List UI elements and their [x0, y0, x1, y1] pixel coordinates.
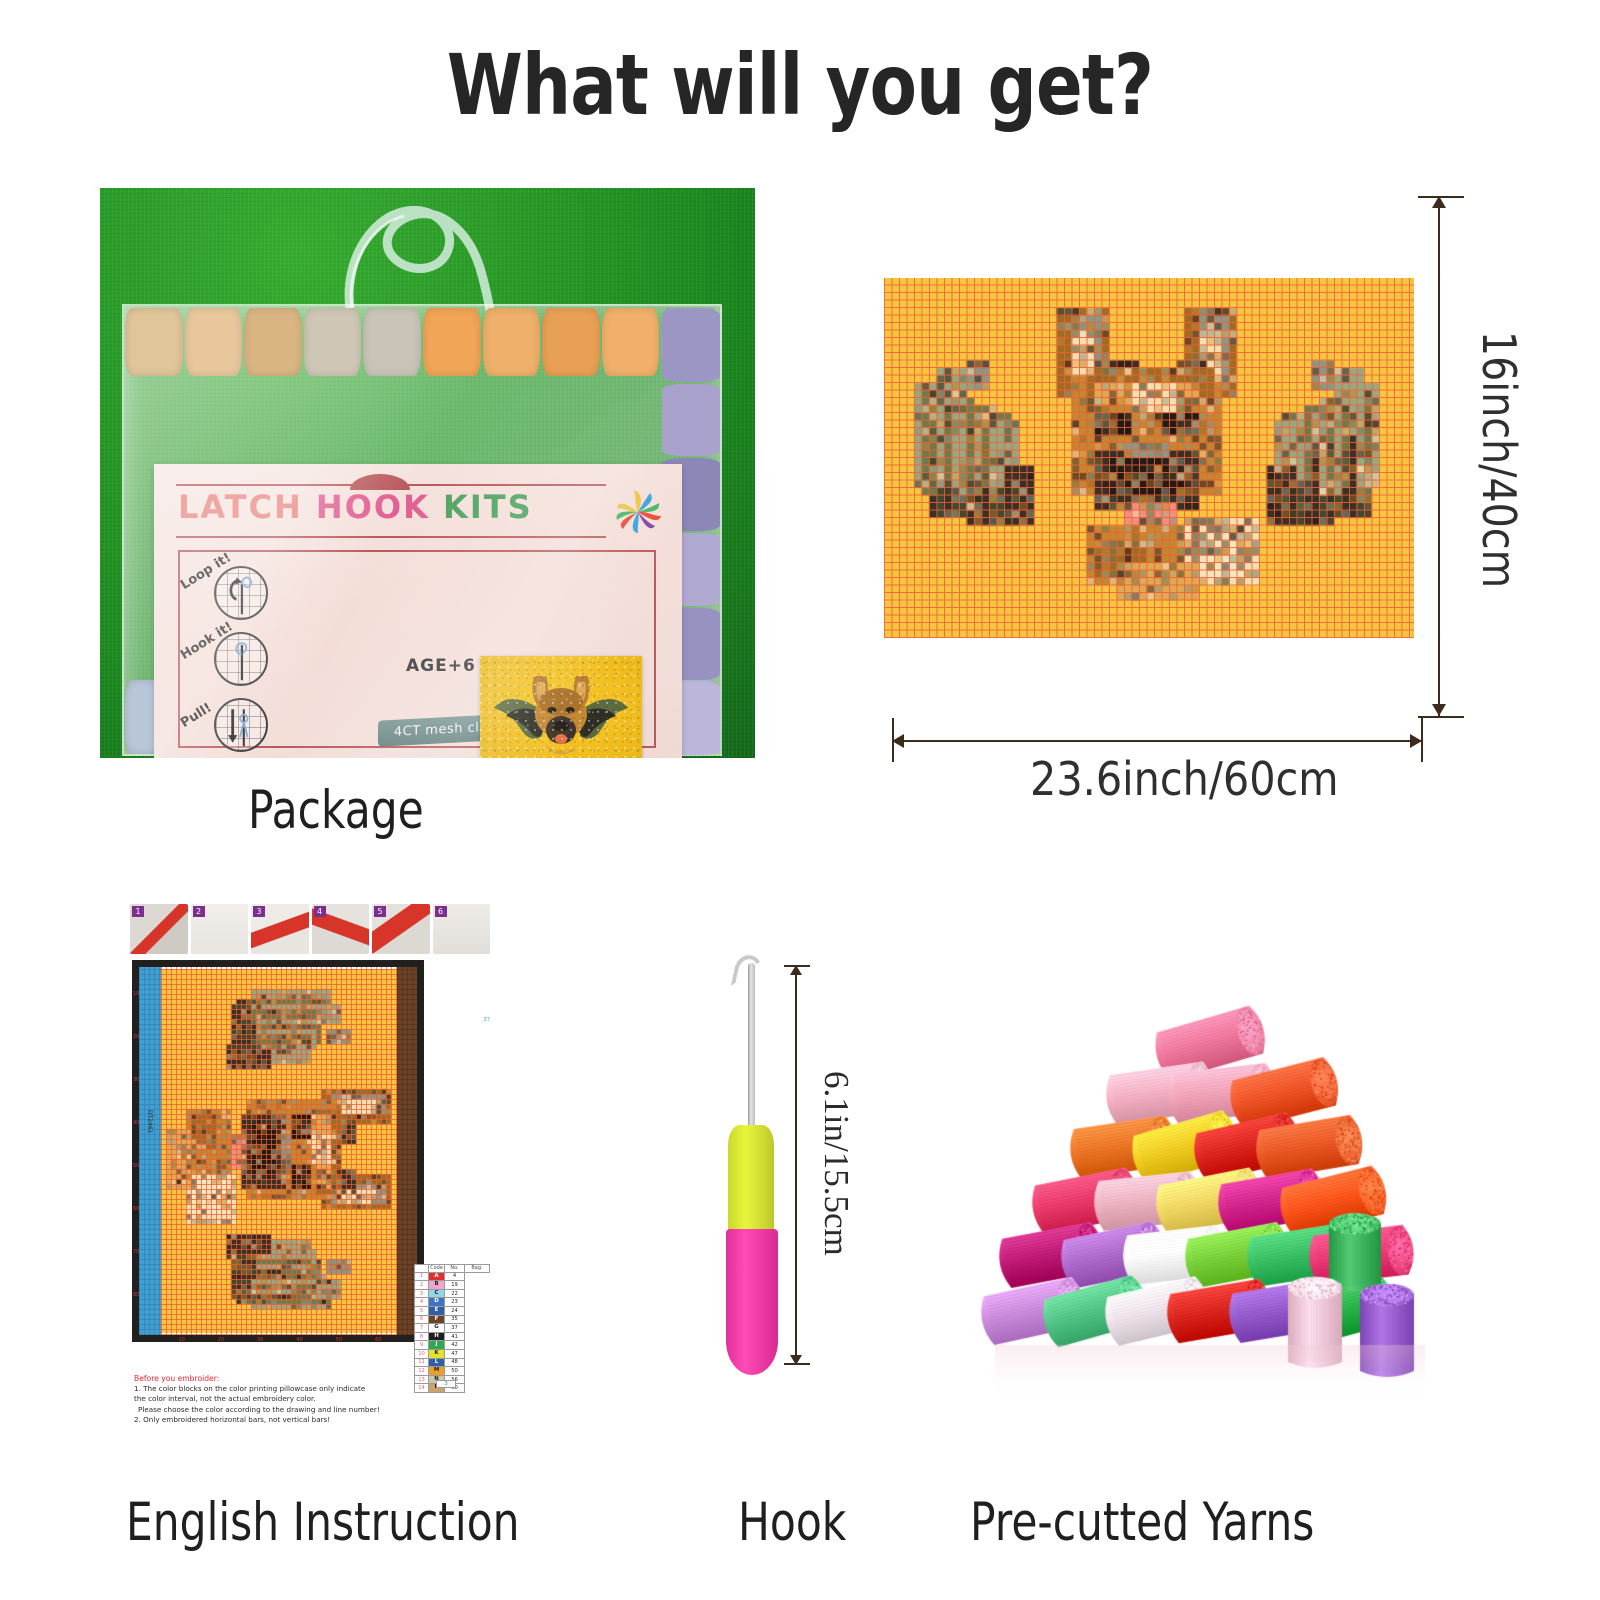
package-printed-label: LATCH HOOK KITS	[154, 464, 682, 758]
dimension-arrow-vertical	[1438, 196, 1440, 716]
yarn-bundle	[542, 308, 600, 376]
legend-index: 1	[415, 1272, 429, 1281]
yarn-bundle	[423, 308, 481, 376]
legend-row: 4D235	[415, 1298, 490, 1307]
step-thumbnail: 1	[130, 904, 188, 954]
legend-header-cell: Bag.	[465, 1265, 490, 1273]
legend-number: 37	[445, 1324, 465, 1333]
ruler-tick: 10	[133, 991, 139, 997]
legend-code-cell: G	[429, 1324, 445, 1333]
legend-index: 5	[415, 1306, 429, 1315]
legend-row: 6F353	[415, 1315, 490, 1324]
legend-row: 12M503	[415, 1367, 490, 1376]
legend-color-swatch: H	[429, 1333, 444, 1341]
yarn-bundle	[304, 308, 362, 376]
thumbnail-step-badge: 6	[435, 906, 447, 917]
legend-header-cell: Code	[429, 1265, 445, 1273]
legend-color-swatch: D	[429, 1298, 444, 1306]
yarn-row-top	[124, 308, 720, 376]
legend-row: 1A43	[415, 1272, 490, 1281]
legend-row: 10K473	[415, 1349, 490, 1358]
before-embroider-line-2: the color interval, not the actual embro…	[134, 1394, 424, 1404]
caption-yarns: Pre-cutted Yarns	[970, 1492, 1314, 1553]
legend-number: 42	[445, 1341, 465, 1350]
yarn-bundle	[363, 308, 421, 376]
legend-number: 50	[445, 1367, 465, 1376]
yarn-bundle	[483, 308, 541, 376]
plastic-package-bag: LATCH HOOK KITS	[122, 304, 722, 756]
yarn-bundle	[244, 308, 302, 376]
latch-hook-tool: 6.1in/15.5cm	[700, 955, 830, 1375]
legend-number: 4	[445, 1272, 465, 1281]
chart-ruler-x: 102030405060	[162, 1337, 398, 1342]
legend-index: 14	[415, 1384, 429, 1393]
pre-cut-yarn-pile	[955, 925, 1465, 1415]
page-title: What will you get?	[144, 36, 1456, 134]
legend-number: 47	[445, 1349, 465, 1358]
z-brand-logo-icon	[178, 756, 218, 758]
yarn-bundle-vertical	[662, 384, 720, 457]
ruler-tick: 20	[133, 1034, 139, 1040]
ruler-tick: 80	[133, 1292, 139, 1298]
legend-number: 48	[445, 1358, 465, 1367]
age-recommendation-text: AGE+6 !	[406, 656, 491, 676]
label-instruction-frame: Loop it! Hook it!	[178, 550, 656, 748]
legend-color-swatch: A	[429, 1273, 444, 1281]
legend-code-cell: B	[429, 1281, 445, 1290]
step-thumbnail-strip: 123456	[130, 904, 490, 954]
ruler-tick: 20	[218, 1337, 224, 1342]
legend-color-swatch: F	[429, 1316, 444, 1324]
legend-index: 3	[415, 1289, 429, 1298]
yarn-bundle	[602, 308, 660, 376]
legend-row: 7G373	[415, 1324, 490, 1333]
legend-number: 19	[445, 1281, 465, 1290]
thumbnail-step-badge: 2	[193, 906, 205, 917]
dim-tick-bottom	[1418, 716, 1464, 718]
before-embroider-line-4: 2. Only embroidered horizontal bars, not…	[134, 1415, 424, 1425]
thumbnail-step-badge: 3	[253, 906, 265, 917]
finished-rug-preview-photo	[480, 656, 642, 758]
legend-number: 35	[445, 1315, 465, 1324]
bag-hanging-ribbon-icon	[330, 202, 530, 312]
legend-row: 14P603	[415, 1384, 490, 1393]
legend-code-cell: H	[429, 1332, 445, 1341]
legend-index: 13	[415, 1375, 429, 1384]
chart-ruler-y: 1020304050607080	[133, 972, 139, 1316]
ruler-tick: 30	[257, 1337, 263, 1342]
thumbnail-step-badge: 5	[374, 906, 386, 917]
legend-color-swatch: L	[429, 1359, 444, 1367]
legend-index: 12	[415, 1367, 429, 1376]
legend-row: 9J421	[415, 1341, 490, 1350]
hook-latch-tip-icon	[731, 952, 765, 991]
legend-color-swatch: M	[429, 1367, 444, 1375]
legend-color-swatch: G	[429, 1324, 444, 1332]
ruler-tick: 50	[336, 1337, 342, 1342]
english-instruction-sheet: 123456 DT2461 102030405060 1020304050607…	[126, 896, 494, 1466]
yarn-bundle	[185, 308, 243, 376]
yarn-bundle-vertical	[662, 309, 720, 382]
legend-code-cell: D	[429, 1298, 445, 1307]
legend-row: 5E242	[415, 1306, 490, 1315]
legend-number: 22	[445, 1289, 465, 1298]
legend-row: 11L483	[415, 1358, 490, 1367]
mesh-grid-overlay	[884, 278, 1414, 638]
before-you-embroider-block: Before you embroider: 1. The color block…	[134, 1374, 424, 1426]
legend-code-cell: A	[429, 1272, 445, 1281]
step-diagram-loop	[214, 566, 268, 620]
legend-index: 9	[415, 1341, 429, 1350]
mesh-canvas-panel	[884, 278, 1414, 638]
legend-code-cell: E	[429, 1306, 445, 1315]
dimension-arrow-horizontal	[892, 740, 1422, 742]
legend-color-swatch: C	[429, 1290, 444, 1298]
step-diagram-pull	[214, 698, 268, 752]
legend-total-count: 37	[483, 1017, 490, 1023]
legend-index: 8	[415, 1332, 429, 1341]
legend-index: 6	[415, 1315, 429, 1324]
hook-handle-upper	[728, 1125, 774, 1233]
brand-word-hook: HOOK	[316, 488, 430, 526]
hook-dimension-arrow	[795, 965, 797, 1365]
caption-hook: Hook	[738, 1492, 846, 1553]
legend-code-cell: K	[429, 1349, 445, 1358]
step-thumbnail: 5	[372, 904, 430, 954]
step-thumbnail: 2	[191, 904, 249, 954]
yarn-bundle	[125, 308, 183, 376]
legend-row: 2B191	[415, 1281, 490, 1290]
legend-code-cell: J	[429, 1341, 445, 1350]
dimension-label-width: 23.6inch/60cm	[1030, 752, 1339, 806]
ruler-tick: 40	[133, 1120, 139, 1126]
legend-code-cell: L	[429, 1358, 445, 1367]
step-label-pull: Pull!	[178, 700, 214, 731]
legend-code-cell: C	[429, 1289, 445, 1298]
chart-grid-overlay	[161, 967, 397, 1335]
brand-title: LATCH HOOK KITS	[178, 488, 533, 526]
legend-index: 2	[415, 1281, 429, 1290]
before-embroider-line-3: Please choose the color according to the…	[134, 1405, 424, 1415]
ruler-tick: 60	[375, 1337, 381, 1342]
ruler-tick: 70	[133, 1249, 139, 1255]
legend-color-swatch: B	[429, 1281, 444, 1289]
legend-code-cell: F	[429, 1315, 445, 1324]
legend-index: 10	[415, 1349, 429, 1358]
step-thumbnail: 6	[433, 904, 491, 954]
printed-mesh-canvas	[884, 278, 1414, 638]
legend-number: 24	[445, 1306, 465, 1315]
package-photo: LATCH HOOK KITS	[100, 188, 755, 758]
legend-row: 3C224	[415, 1289, 490, 1298]
legend-header-cell	[415, 1265, 429, 1273]
pixel-pattern-chart: DT2461 102030405060 1020304050607080	[132, 960, 424, 1342]
ruler-tick: 30	[133, 1077, 139, 1083]
legend-index: 4	[415, 1298, 429, 1307]
legend-row: 8H413	[415, 1332, 490, 1341]
chart-side-code-text: DT2461	[146, 1110, 153, 1134]
legend-color-swatch: E	[429, 1307, 444, 1315]
chart-left-color-band	[139, 967, 161, 1335]
legend-color-swatch: K	[429, 1350, 444, 1358]
legend-code-cell: M	[429, 1367, 445, 1376]
legend-index: 11	[415, 1358, 429, 1367]
ruler-tick: 50	[133, 1163, 139, 1169]
pinwheel-icon	[612, 486, 664, 538]
brand-word-kits: KITS	[443, 488, 533, 526]
hook-handle-lower	[726, 1229, 778, 1375]
legend-bag-count: 3	[436, 1380, 456, 1388]
thumbnail-step-badge: 1	[132, 906, 144, 917]
caption-english-instruction: English Instruction	[126, 1492, 520, 1553]
legend-number: 41	[445, 1332, 465, 1341]
legend-header-cell: No.	[445, 1265, 465, 1273]
color-legend-table: CodeNo.Bag.1A432B1913C2244D2355E2426F353…	[414, 1264, 490, 1393]
brand-word-latch: LATCH	[178, 488, 303, 526]
hook-length-label: 6.1in/15.5cm	[816, 1071, 856, 1256]
ruler-tick: 40	[296, 1337, 302, 1342]
legend-index: 7	[415, 1324, 429, 1333]
infographic-page: What will you get? LATCH HOOK KITS	[0, 0, 1600, 1600]
ruler-tick: 60	[133, 1206, 139, 1212]
legend-number: 23	[445, 1298, 465, 1307]
label-rule-bottom	[176, 536, 606, 538]
legend-color-swatch: J	[429, 1341, 444, 1349]
caption-package: Package	[248, 780, 424, 841]
yarn-pile-artwork	[955, 925, 1465, 1415]
dimension-label-height: 16inch/40cm	[1472, 331, 1526, 588]
step-thumbnail: 4	[312, 904, 370, 954]
step-diagram-hook	[214, 632, 268, 686]
ruler-tick: 10	[178, 1337, 184, 1342]
before-embroider-line-1: 1. The color blocks on the color printin…	[134, 1384, 424, 1394]
thumbnail-step-badge: 4	[314, 906, 326, 917]
before-embroider-heading: Before you embroider:	[134, 1374, 424, 1383]
step-thumbnail: 3	[251, 904, 309, 954]
